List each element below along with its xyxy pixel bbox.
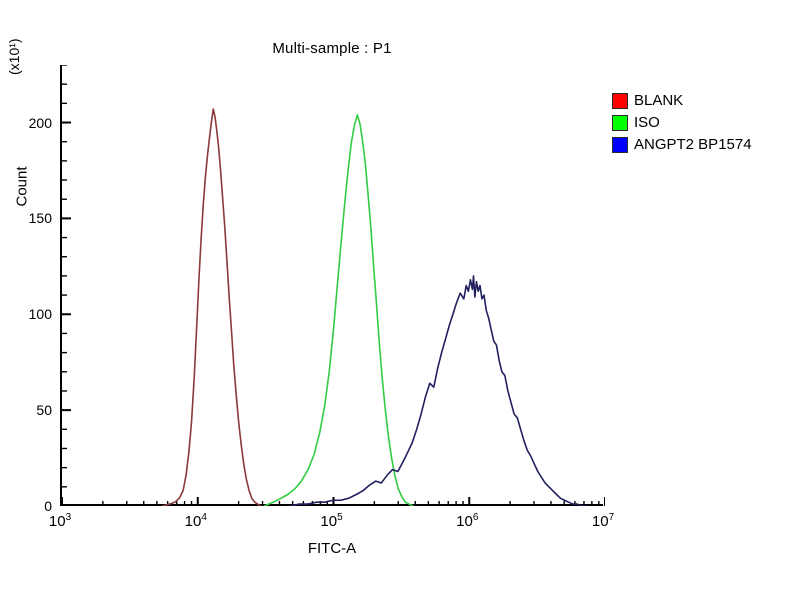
legend-item-label: ISO xyxy=(634,115,660,130)
legend: BLANKISOANGPT2 BP1574 xyxy=(612,90,798,156)
x-tick-label: 106 xyxy=(456,512,478,530)
y-tick-label: 200 xyxy=(29,115,52,131)
x-axis-tick-labels: 103104105106107 xyxy=(60,512,604,538)
legend-color-swatch xyxy=(612,115,628,131)
legend-item[interactable]: BLANK xyxy=(612,90,798,111)
plot-area xyxy=(60,65,603,506)
legend-item[interactable]: ANGPT2 BP1574 xyxy=(612,134,798,155)
x-tick-label: 103 xyxy=(49,512,71,530)
legend-item-label: BLANK xyxy=(634,93,683,108)
legend-item[interactable]: ISO xyxy=(612,112,798,133)
x-tick-label: 107 xyxy=(592,512,614,530)
x-axis-title: FITC-A xyxy=(60,540,604,557)
legend-color-swatch xyxy=(612,93,628,109)
series-curve-blank xyxy=(163,109,261,506)
chart-title: Multi-sample : P1 xyxy=(60,40,604,57)
y-tick-label: 150 xyxy=(29,210,52,226)
x-tick-label: 105 xyxy=(320,512,342,530)
x-tick-label: 104 xyxy=(185,512,207,530)
y-axis-tick-labels: 050100150200 xyxy=(0,65,52,506)
legend-item-label: ANGPT2 BP1574 xyxy=(634,137,752,152)
y-tick-label: 50 xyxy=(36,402,52,418)
series-curve-iso xyxy=(264,115,413,506)
flow-cytometry-figure: Multi-sample : P1 (x10¹) Count 050100150… xyxy=(0,0,800,600)
legend-color-swatch xyxy=(612,137,628,153)
y-tick-label: 100 xyxy=(29,306,52,322)
histogram-canvas xyxy=(62,65,605,506)
